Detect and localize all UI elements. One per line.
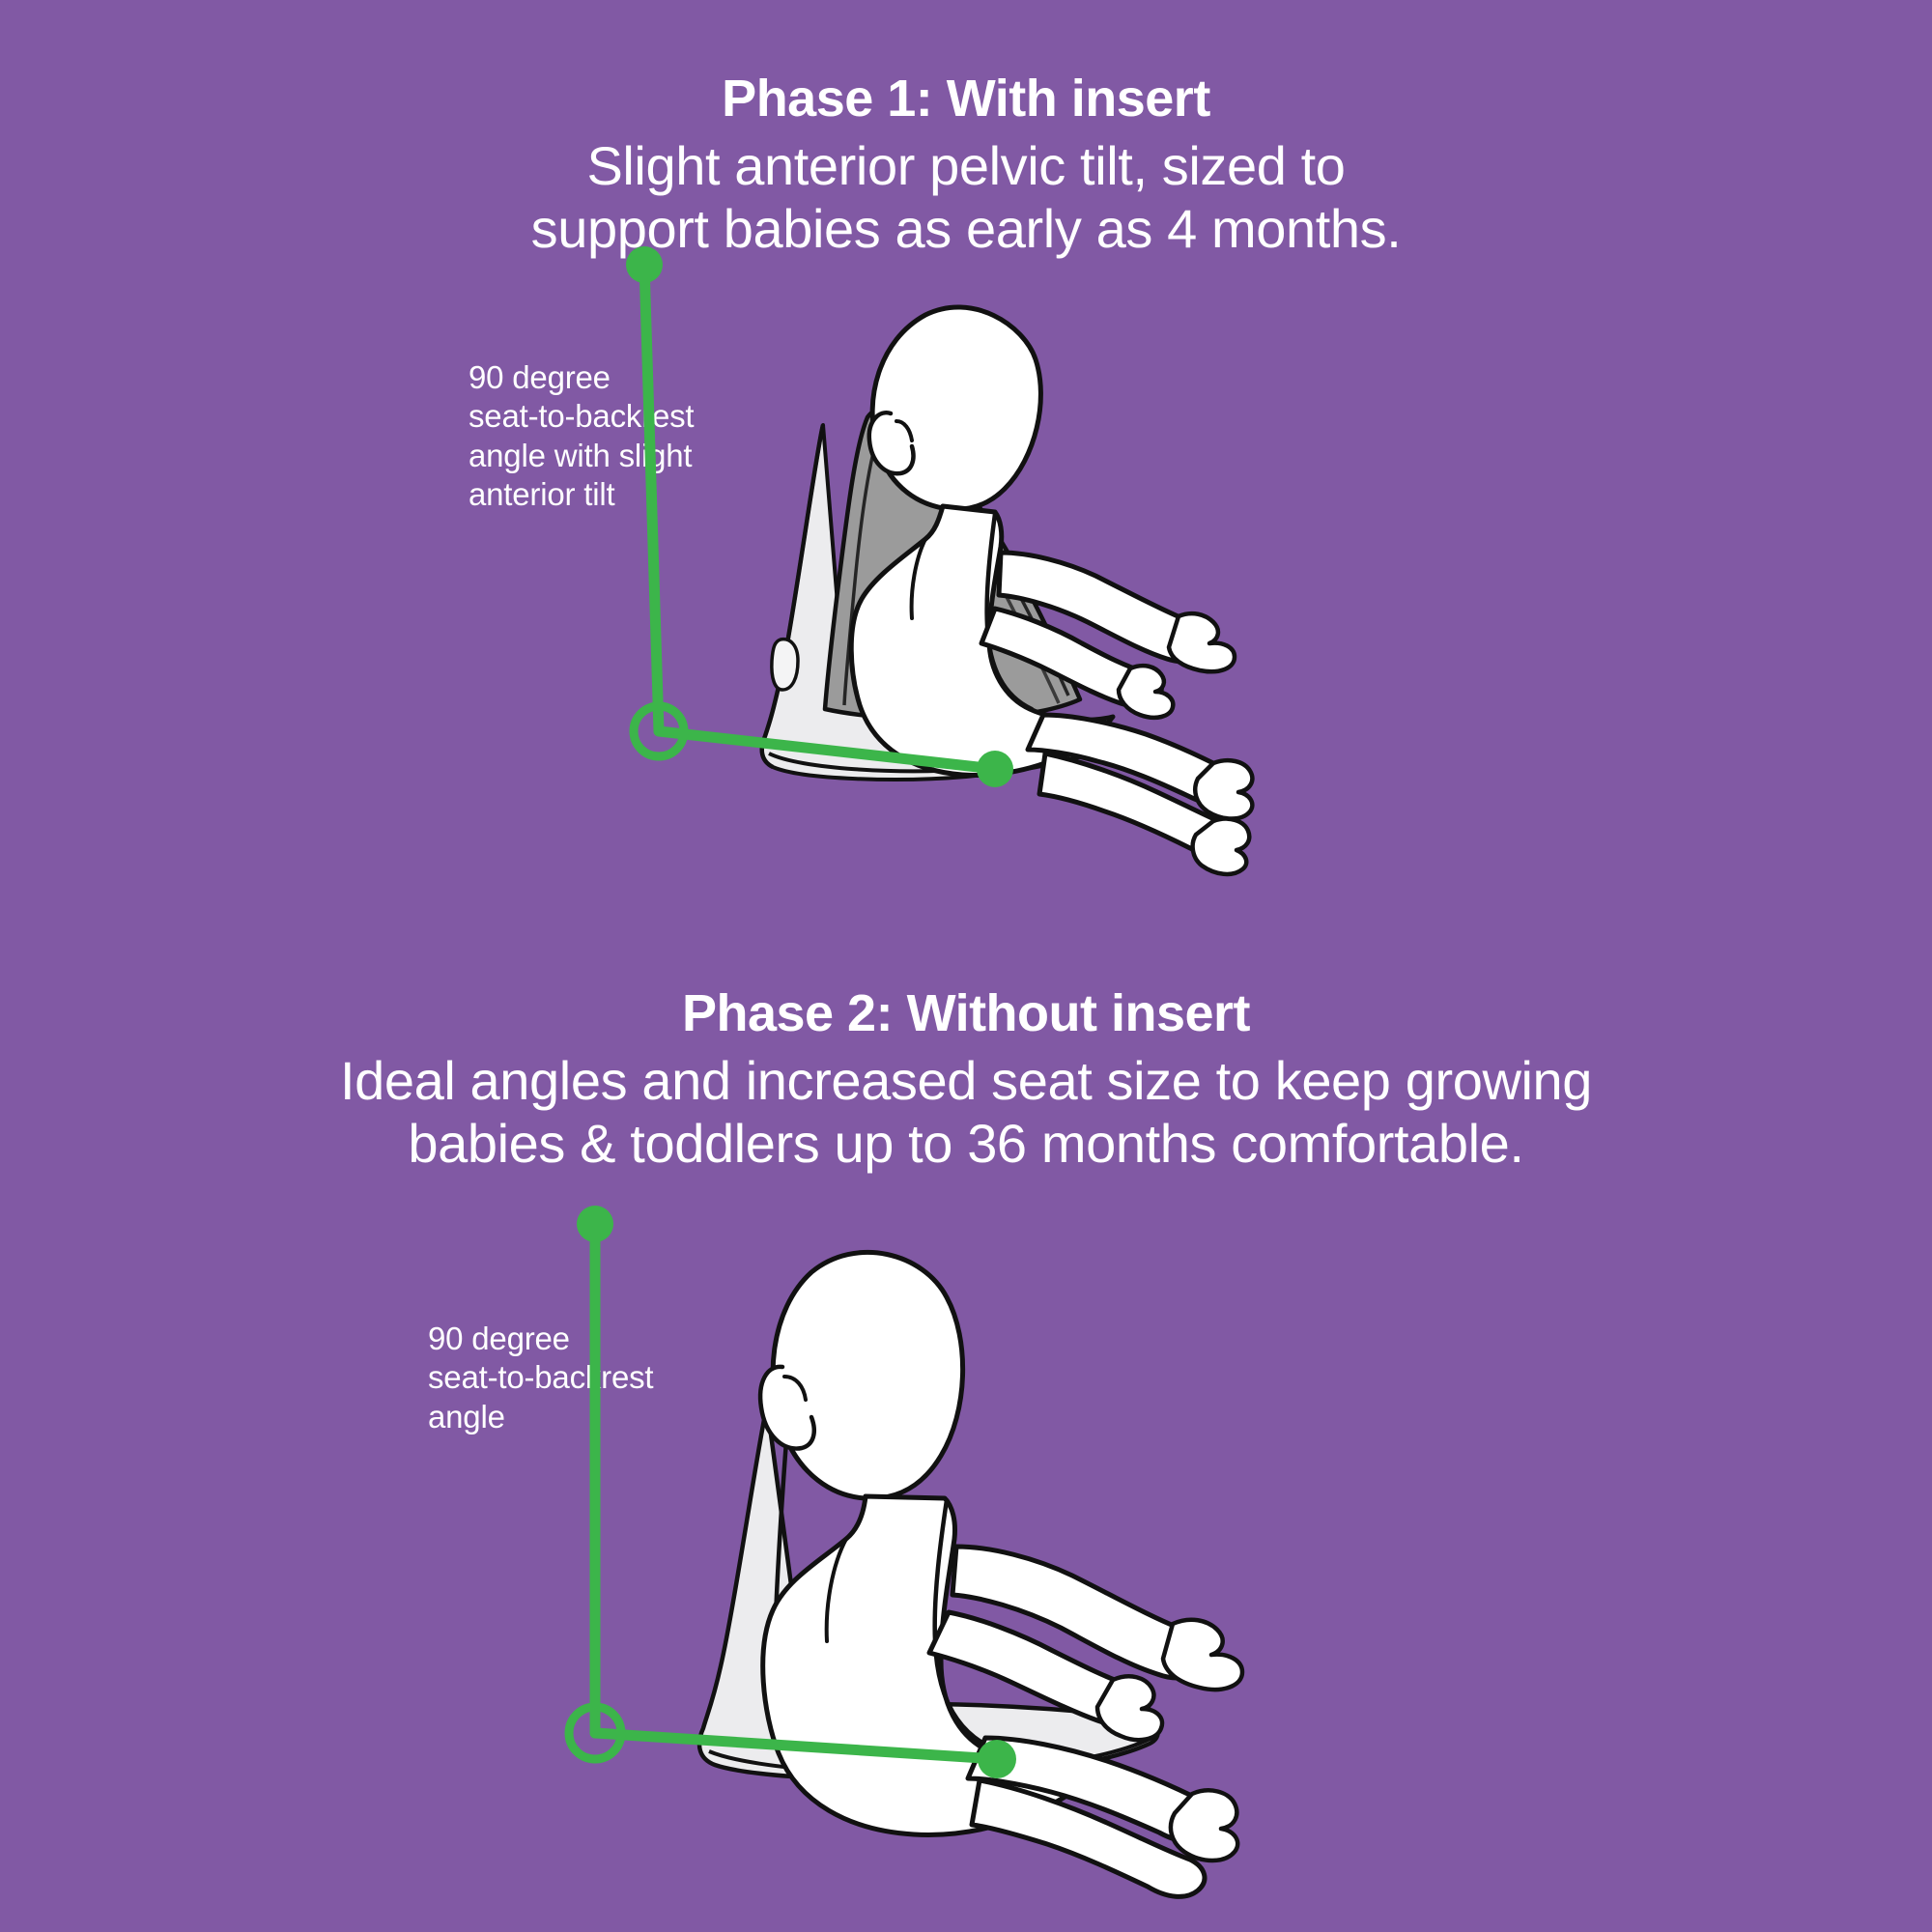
phase2-figure bbox=[667, 1232, 1285, 1889]
phase2-subtitle-line-1: Ideal angles and increased seat size to … bbox=[0, 1050, 1932, 1113]
phase2-top-endpoint-dot-icon bbox=[577, 1206, 613, 1242]
phase2-title: Phase 2: Without insert bbox=[0, 984, 1932, 1042]
seat-side-button-icon bbox=[772, 639, 798, 690]
phase1-top-endpoint-dot-icon bbox=[626, 246, 663, 283]
phase2-illustration bbox=[667, 1232, 1285, 1889]
phase1-right-endpoint-dot-icon bbox=[977, 751, 1013, 787]
phase2-heading-block: Phase 2: Without insert Ideal angles and… bbox=[0, 984, 1932, 1176]
phase1-angle-callout: 90 degree seat-to-backrest angle with sl… bbox=[469, 358, 694, 514]
phase2-subtitle: Ideal angles and increased seat size to … bbox=[0, 1042, 1932, 1176]
phase1-title: Phase 1: With insert bbox=[0, 70, 1932, 128]
phase1-subtitle-line-2: support babies as early as 4 months. bbox=[0, 198, 1932, 261]
phase1-baby-figure bbox=[851, 307, 1252, 874]
phase1-subtitle: Slight anterior pelvic tilt, sized to su… bbox=[0, 128, 1932, 261]
phase2-right-endpoint-dot-icon bbox=[978, 1740, 1016, 1778]
phase2-angle-callout: 90 degree seat-to-backrest angle bbox=[428, 1320, 653, 1436]
phase1-subtitle-line-1: Slight anterior pelvic tilt, sized to bbox=[0, 135, 1932, 198]
phase1-backrest-line bbox=[644, 265, 659, 731]
phase2-subtitle-line-2: babies & toddlers up to 36 months comfor… bbox=[0, 1113, 1932, 1176]
phase1-heading-block: Phase 1: With insert Slight anterior pel… bbox=[0, 70, 1932, 261]
infographic-canvas: Phase 1: With insert Slight anterior pel… bbox=[0, 0, 1932, 1932]
phase1-illustration bbox=[676, 299, 1256, 908]
phase1-figure bbox=[676, 299, 1256, 908]
phase2-baby-figure bbox=[760, 1252, 1242, 1896]
